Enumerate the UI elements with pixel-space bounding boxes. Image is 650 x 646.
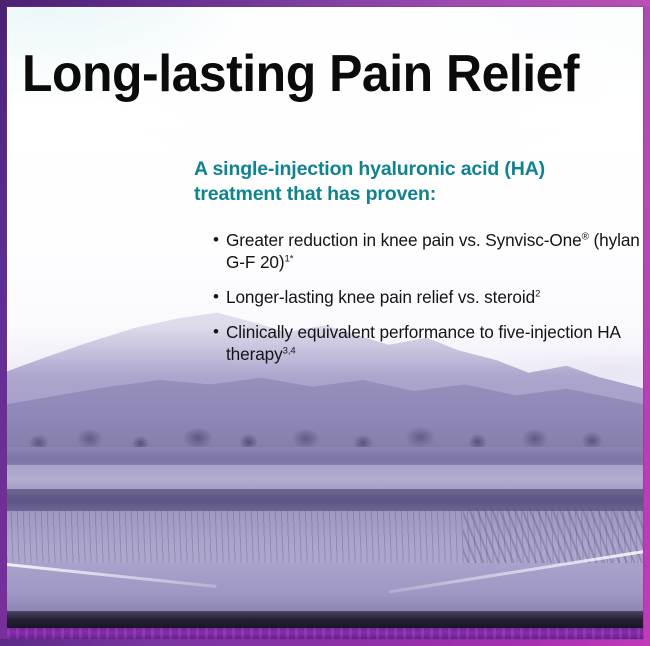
list-item: • Greater reduction in knee pain vs. Syn… (212, 229, 644, 273)
reference-superscript: 2 (535, 288, 540, 299)
slide-canvas: Long-lasting Pain Relief A single-inject… (0, 0, 650, 646)
list-item: • Longer-lasting knee pain relief vs. st… (212, 286, 644, 308)
claim-text: Greater reduction in knee pain vs. Synvi… (226, 230, 582, 250)
slide-subheading: A single-injection hyaluronic acid (HA) … (194, 157, 634, 207)
slide-content: Long-lasting Pain Relief A single-inject… (7, 7, 643, 639)
list-item: • Clinically equivalent performance to f… (212, 321, 644, 365)
bullet-marker-icon: • (213, 229, 219, 251)
reference-superscript: 3,4 (283, 345, 296, 356)
page-title: Long-lasting Pain Relief (22, 45, 608, 103)
bullet-marker-icon: • (213, 321, 219, 343)
reference-superscript: 1* (285, 253, 294, 264)
claims-list: • Greater reduction in knee pain vs. Syn… (212, 229, 644, 365)
claim-text: Clinically equivalent performance to fiv… (226, 322, 620, 364)
registered-trademark-icon: ® (582, 231, 589, 242)
bullet-marker-icon: • (213, 286, 219, 308)
claim-text: Longer-lasting knee pain relief vs. ster… (226, 287, 535, 307)
